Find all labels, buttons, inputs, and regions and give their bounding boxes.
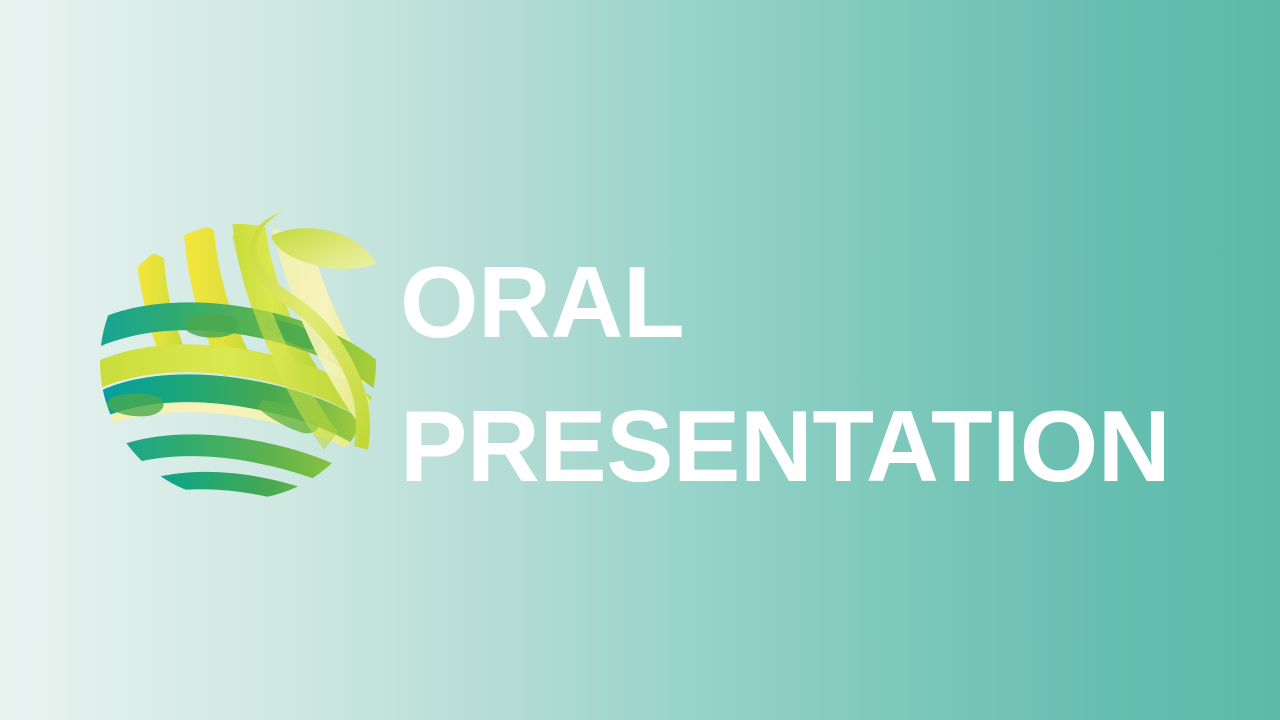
slide-headline: ORAL PRESENTATION (400, 231, 1220, 519)
logo-band-7 (140, 502, 342, 520)
logo-svg (92, 200, 382, 520)
slide-canvas: ORAL PRESENTATION (0, 0, 1280, 720)
ribbon-globe-leaf-logo (92, 200, 382, 520)
headline-line-presentation: PRESENTATION (400, 375, 1220, 519)
headline-line-oral: ORAL (400, 231, 1220, 375)
logo-band-6 (118, 472, 378, 520)
logo-continent-1 (186, 314, 238, 338)
